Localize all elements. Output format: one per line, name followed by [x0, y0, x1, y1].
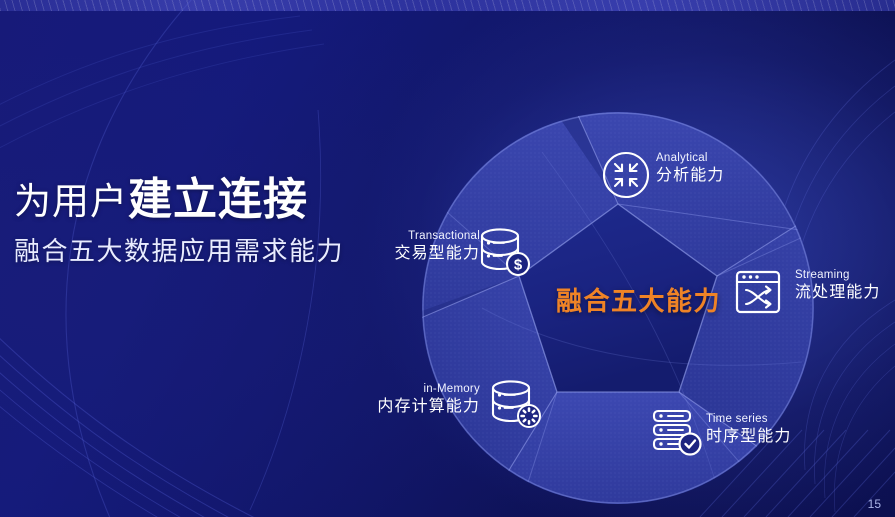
capability-zh-timeseries: 时序型能力 [706, 428, 792, 446]
capability-zh-transactional: 交易型能力 [372, 245, 480, 263]
capability-en-inmemory: in-Memory [372, 383, 480, 396]
window-shuffle-icon [733, 268, 783, 316]
arrows-inward-circle-icon [601, 150, 651, 200]
title-lead: 为用户 [14, 181, 128, 222]
page-title: 为用户建立连接 [14, 163, 308, 227]
top-accent-band [0, 0, 895, 11]
capability-zh-streaming: 流处理能力 [795, 284, 881, 302]
server-check-icon [650, 406, 704, 456]
capability-en-timeseries: Time series [706, 413, 792, 426]
database-gear-icon [489, 378, 543, 430]
capability-zh-inmemory: 内存计算能力 [372, 398, 480, 416]
database-dollar-icon: $ [478, 226, 532, 278]
capability-label-transactional: Transactional 交易型能力 [372, 230, 480, 263]
slide-canvas: 为用户建立连接 融合五大数据应用需求能力 [0, 0, 895, 517]
diagram-center-label: 融合五大能力 [556, 281, 721, 318]
capability-en-streaming: Streaming [795, 269, 881, 282]
capability-zh-analytical: 分析能力 [656, 167, 724, 185]
capability-label-timeseries: Time series 时序型能力 [706, 413, 792, 446]
capability-label-inmemory: in-Memory 内存计算能力 [372, 383, 480, 416]
title-emphasis: 建立连接 [128, 175, 308, 224]
capability-label-analytical: Analytical 分析能力 [656, 152, 724, 185]
svg-text:$: $ [514, 257, 523, 274]
capability-label-streaming: Streaming 流处理能力 [795, 269, 881, 302]
capability-en-transactional: Transactional [372, 230, 480, 243]
page-subtitle: 融合五大数据应用需求能力 [14, 231, 344, 268]
capability-en-analytical: Analytical [656, 152, 724, 165]
slide-number: 15 [868, 497, 881, 511]
